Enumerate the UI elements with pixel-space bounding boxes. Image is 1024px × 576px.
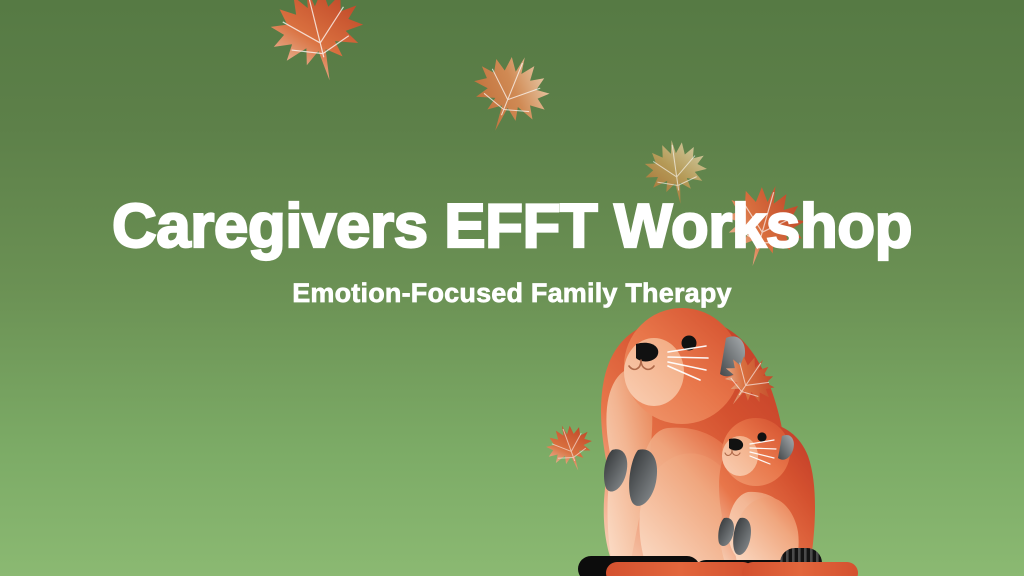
log-front-left xyxy=(606,562,754,576)
log-foreground-layer xyxy=(0,0,1024,576)
log-front-right xyxy=(742,562,858,576)
slide-canvas: Caregivers EFFT Workshop Emotion-Focused… xyxy=(0,0,1024,576)
